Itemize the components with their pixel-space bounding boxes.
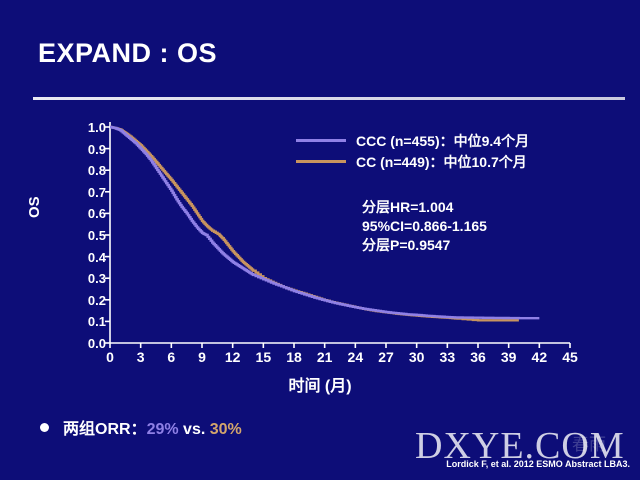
y-tick-label: 0.6 — [70, 207, 106, 220]
x-tick-label: 42 — [524, 349, 554, 365]
y-axis-label: OS — [26, 196, 43, 218]
page-title: EXPAND : OS — [38, 38, 217, 69]
orr-value-cc: 30% — [210, 421, 242, 438]
legend-item-cc: CC (n=449)：中位10.7个月 — [296, 151, 529, 172]
stat-ci: 95%CI=0.866-1.165 — [362, 217, 487, 236]
x-tick-label: 36 — [463, 349, 493, 365]
x-tick-label: 9 — [187, 349, 217, 365]
x-axis-label: 时间 (月) — [0, 372, 640, 396]
x-tick-label: 33 — [432, 349, 462, 365]
x-tick-label: 45 — [555, 349, 585, 365]
bullet-dot-icon — [40, 423, 49, 432]
y-tick-label: 0.9 — [70, 143, 106, 156]
stat-hr: 分层HR=1.004 — [362, 198, 487, 217]
y-tick-label: 0.3 — [70, 272, 106, 285]
x-tick-label: 21 — [310, 349, 340, 365]
orr-separator: vs. — [179, 421, 210, 438]
chart-legend: CCC (n=455)：中位9.4个月 CC (n=449)：中位10.7个月 — [296, 130, 529, 172]
orr-label: 两组ORR： — [63, 421, 147, 438]
x-tick-label: 6 — [156, 349, 186, 365]
x-tick-label: 0 — [95, 349, 125, 365]
y-tick-label: 0.8 — [70, 164, 106, 177]
legend-swatch-cc — [296, 160, 346, 163]
slide-root: EXPAND : OS 1.00.90.80.70.60.50.40.30.20… — [0, 0, 640, 480]
x-tick-label: 12 — [218, 349, 248, 365]
orr-bullet-text: 两组ORR：29% vs. 30% — [63, 415, 242, 439]
legend-item-ccc: CCC (n=455)：中位9.4个月 — [296, 130, 529, 151]
stat-p: 分层P=0.9547 — [362, 236, 487, 255]
orr-value-ccc: 29% — [147, 421, 179, 438]
x-tick-label: 24 — [340, 349, 370, 365]
legend-swatch-ccc — [296, 139, 346, 142]
legend-label-cc: CC (n=449)：中位10.7个月 — [356, 152, 527, 172]
x-tick-label: 39 — [494, 349, 524, 365]
citation-text: Lordick F, et al. 2012 ESMO Abstract LBA… — [446, 459, 630, 469]
y-tick-label: 0.2 — [70, 294, 106, 307]
x-tick-label: 30 — [402, 349, 432, 365]
y-tick-label: 0.5 — [70, 229, 106, 242]
title-divider — [33, 97, 625, 100]
x-tick-label: 3 — [126, 349, 156, 365]
y-tick-label: 0.1 — [70, 315, 106, 328]
orr-bullet: 两组ORR：29% vs. 30% — [40, 415, 242, 439]
watermark-cn-text: 春雨 — [572, 430, 606, 455]
x-tick-label: 18 — [279, 349, 309, 365]
legend-label-ccc: CCC (n=455)：中位9.4个月 — [356, 131, 529, 151]
statistics-block: 分层HR=1.004 95%CI=0.866-1.165 分层P=0.9547 — [362, 198, 487, 255]
x-tick-label: 15 — [248, 349, 278, 365]
x-tick-label: 27 — [371, 349, 401, 365]
y-tick-label: 1.0 — [70, 121, 106, 134]
y-axis-ticks: 1.00.90.80.70.60.50.40.30.20.10.0 — [70, 0, 106, 480]
y-tick-label: 0.7 — [70, 186, 106, 199]
y-tick-label: 0.4 — [70, 251, 106, 264]
x-axis-ticks: 0369121518212427303336394245 — [0, 349, 640, 369]
